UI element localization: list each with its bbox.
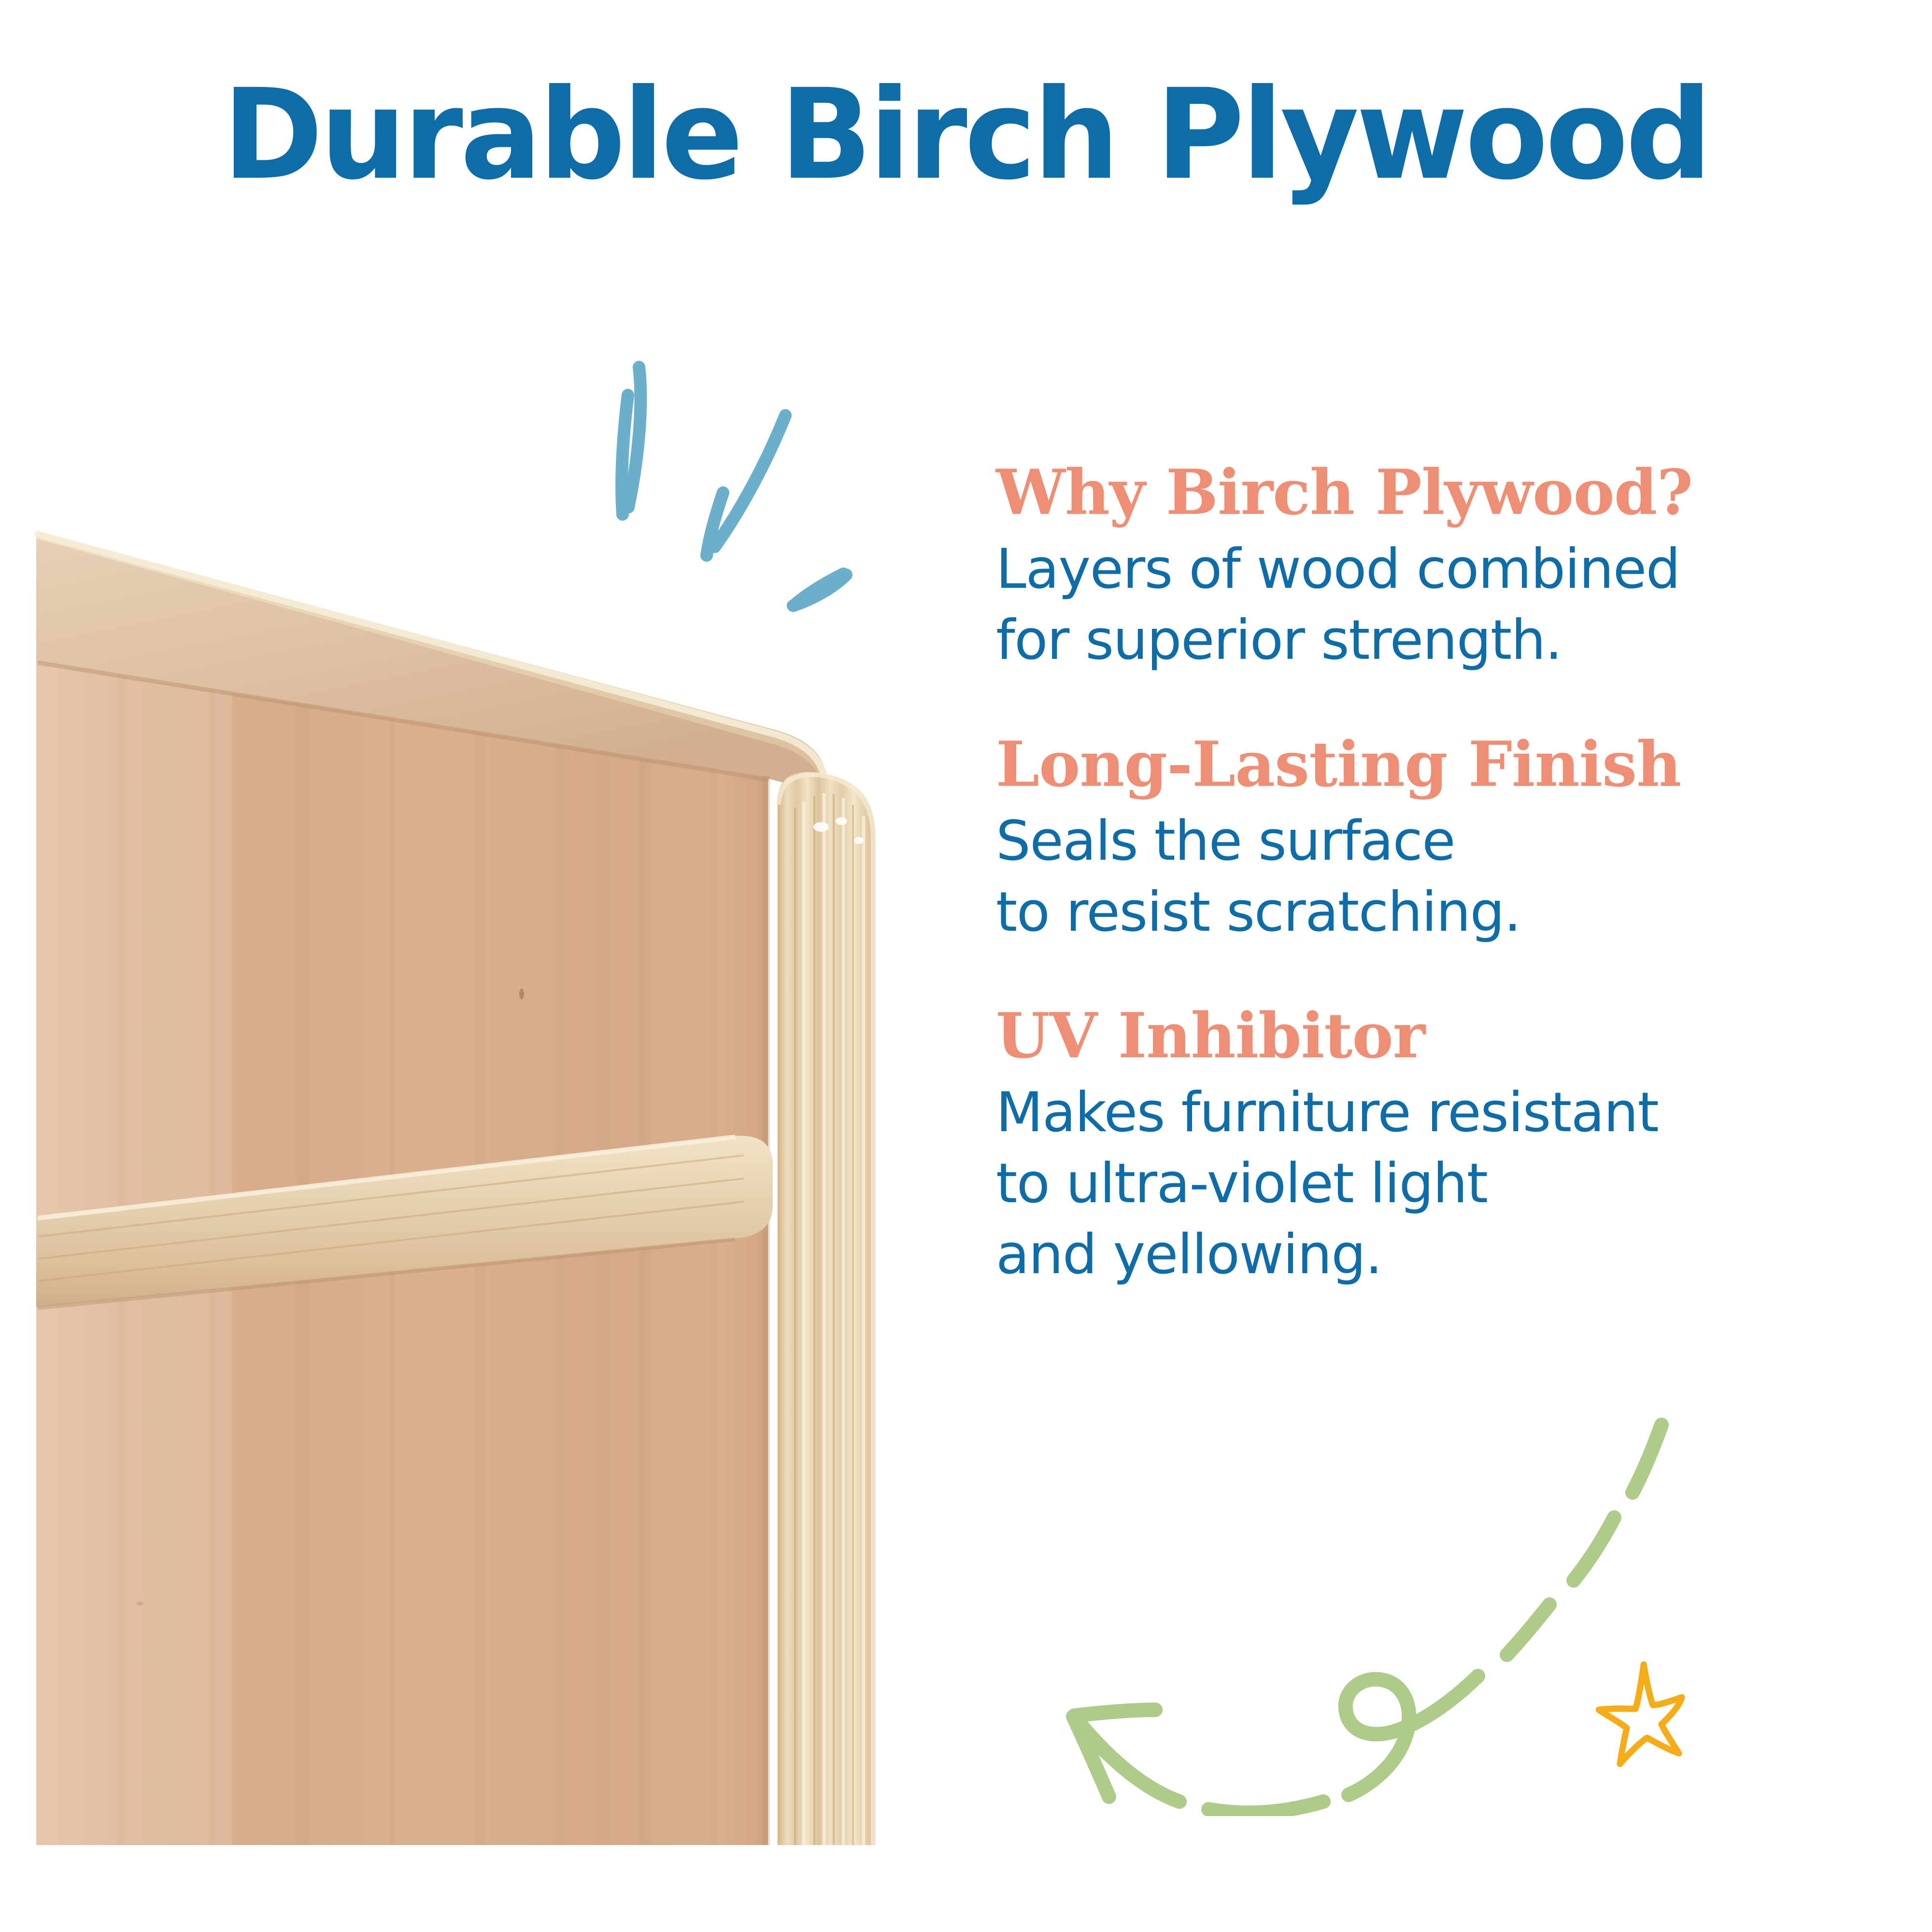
feature-body-line: and yellowing. bbox=[996, 1219, 1894, 1290]
feature-heading: UV Inhibitor bbox=[996, 1003, 1894, 1069]
sparkle-lines-icon bbox=[570, 348, 898, 618]
feature-body-line: to resist scratching. bbox=[996, 877, 1894, 948]
feature-body-line: to ultra-violet light bbox=[996, 1148, 1894, 1219]
feature-block-uv-inhibitor: UV Inhibitor Makes furniture resistant t… bbox=[996, 1003, 1894, 1290]
feature-list: Why Birch Plywood? Layers of wood combin… bbox=[996, 460, 1894, 1290]
feature-body-line: Layers of wood combined bbox=[996, 534, 1894, 605]
feature-body-line: Seals the surface bbox=[996, 806, 1894, 877]
feature-heading: Why Birch Plywood? bbox=[996, 460, 1894, 526]
feature-body-line: Makes furniture resistant bbox=[996, 1077, 1894, 1148]
feature-body-line: for superior strength. bbox=[996, 605, 1894, 676]
feature-block-long-lasting-finish: Long-Lasting Finish Seals the surface to… bbox=[996, 732, 1894, 948]
page-title: Durable Birch Plywood bbox=[29, 72, 1903, 197]
plywood-photo bbox=[0, 435, 918, 1864]
star-outline-icon bbox=[1584, 1637, 1744, 1802]
feature-block-why-birch-plywood: Why Birch Plywood? Layers of wood combin… bbox=[996, 460, 1894, 676]
feature-heading: Long-Lasting Finish bbox=[996, 732, 1894, 798]
